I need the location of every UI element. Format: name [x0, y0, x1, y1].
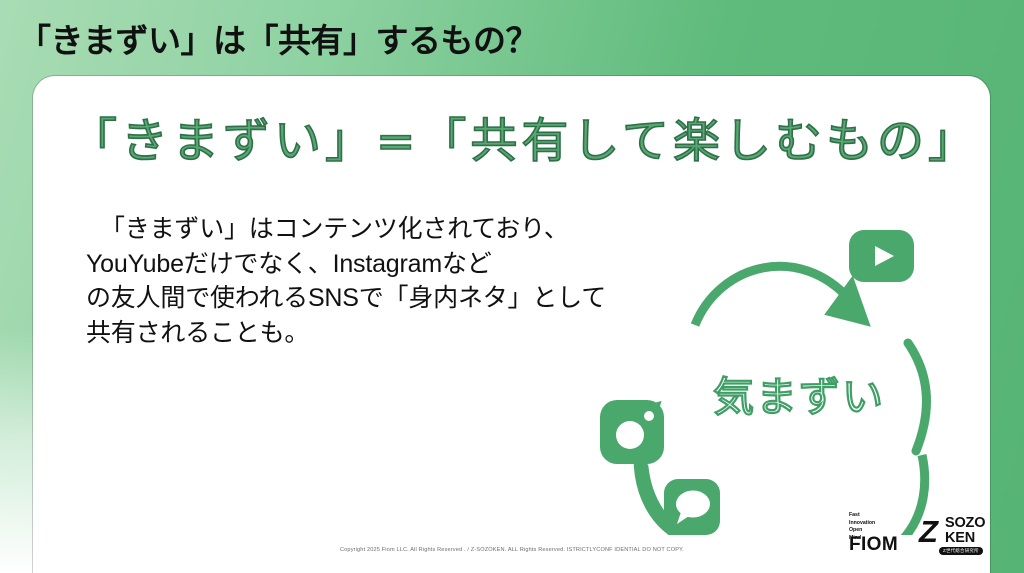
logo-group: Fast Innovation Open Mind FIOM Z SOZO KE… [849, 506, 994, 554]
sozoken-logo: Z SOZO KEN Z世代総合研究所 [919, 511, 994, 555]
sozoken-z-mark: Z [919, 516, 938, 547]
play-triangle [875, 246, 894, 266]
headline-equation: 「きまずい」=「共有して楽しむもの」 [70, 102, 979, 171]
sozoken-wordmark: SOZO KEN [945, 516, 985, 546]
fiom-wordmark: FIOM [849, 534, 898, 556]
tagline-line-1: Fast [849, 512, 875, 520]
tagline-line-2: Innovation [849, 520, 875, 528]
page-title: 「きまずい」は「共有」するもの？ [18, 14, 538, 62]
camera-lens [616, 421, 644, 449]
sozoken-line-1: SOZO [945, 516, 985, 531]
cycle-center-label: 気まずい [713, 363, 885, 423]
body-line-3: の友人間で使われるSNSで「身内ネタ」として [86, 281, 686, 316]
body-paragraph: 「きまずい」はコンテンツ化されており、 YouYubeだけでなく、Instagr… [86, 212, 686, 350]
camera-flash-dot [644, 411, 654, 421]
chat-bubble-icon [664, 479, 720, 535]
sozoken-subtitle: Z世代総合研究所 [939, 547, 983, 555]
body-line-4: 共有されることも。 [86, 316, 686, 351]
youtube-icon [849, 230, 914, 282]
arrow-right-upper [908, 343, 926, 451]
body-line-2: YouYubeだけでなく、Instagramなど [86, 247, 686, 282]
sozoken-line-2: KEN [945, 531, 985, 546]
slide-canvas: 「きまずい」は「共有」するもの？ 「きまずい」=「共有して楽しむもの」 「きまず… [0, 0, 1024, 573]
arrow-top-arc [695, 266, 850, 325]
body-line-1: 「きまずい」はコンテンツ化されており、 [86, 212, 686, 247]
instagram-icon [600, 400, 664, 464]
